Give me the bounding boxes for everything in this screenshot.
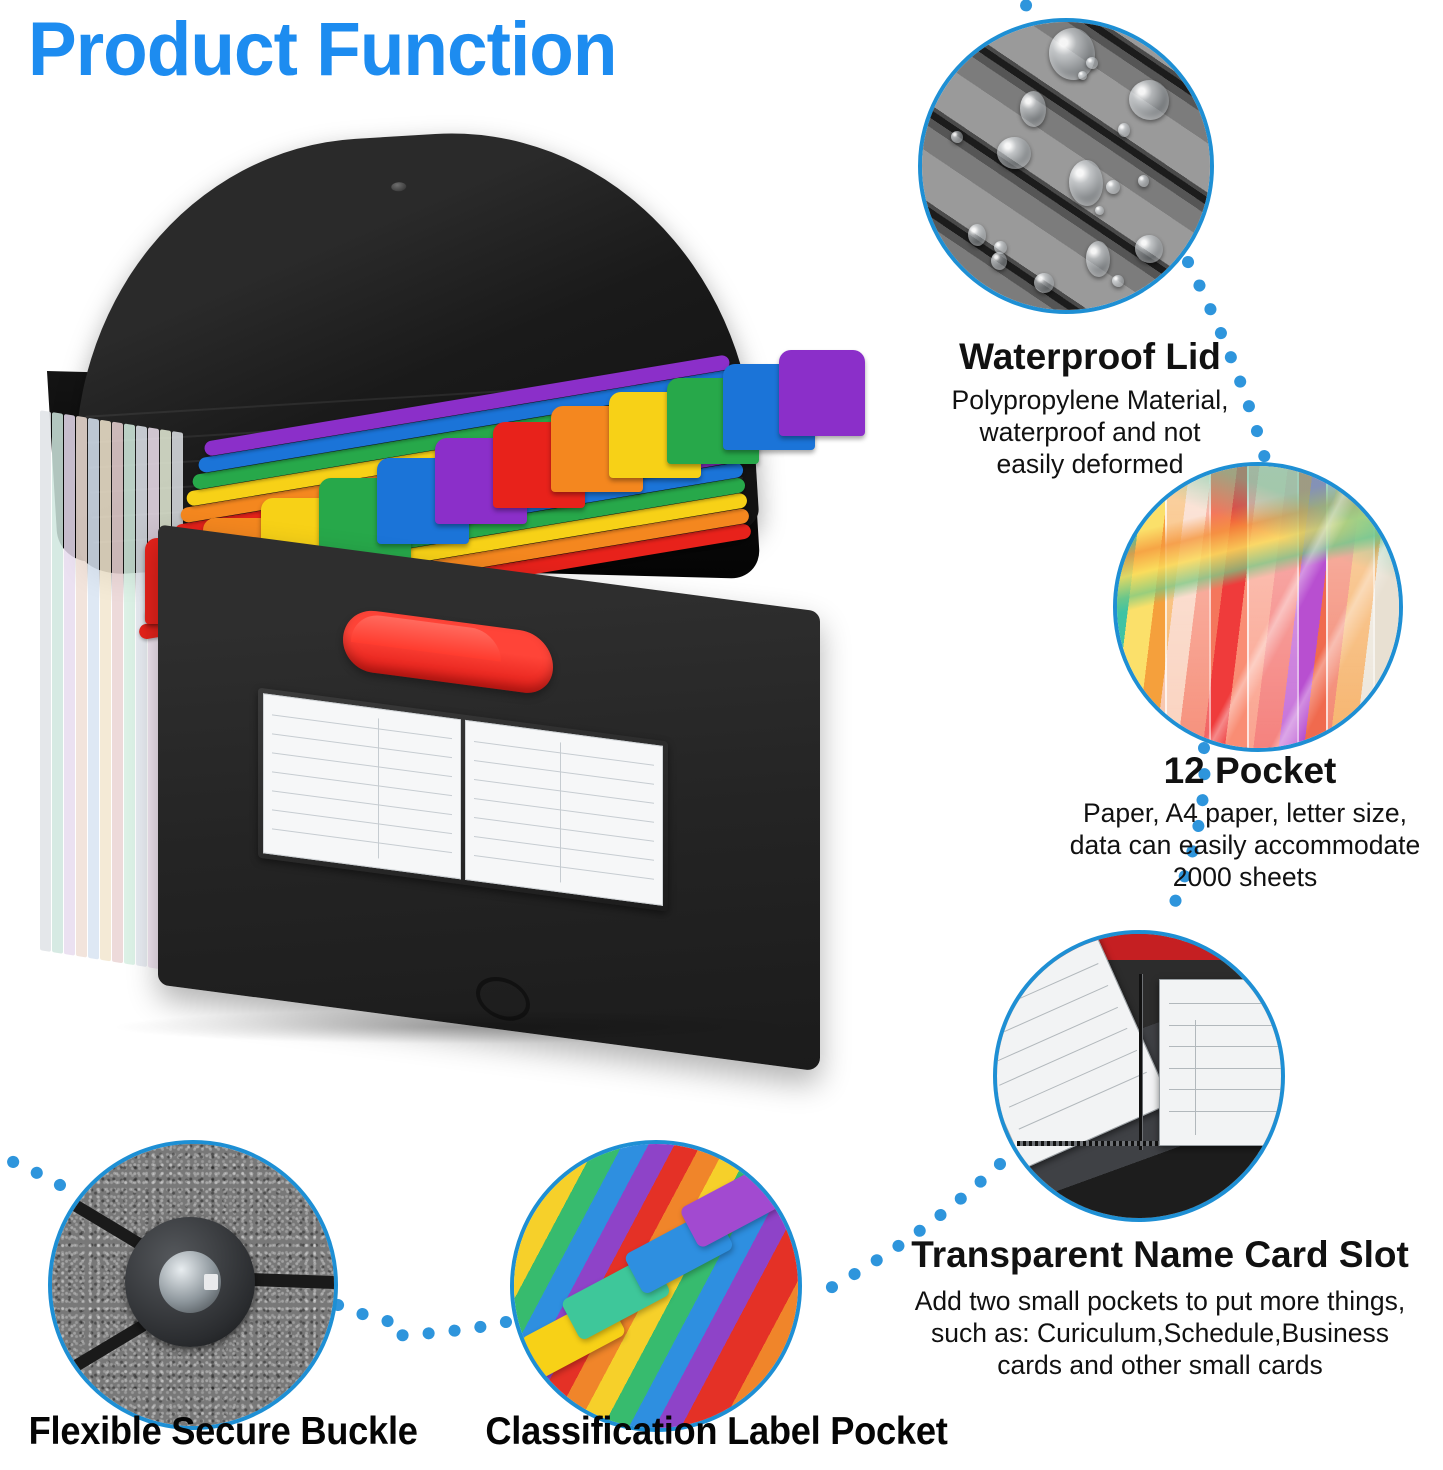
folder-front-panel: [158, 524, 820, 1071]
flexible-secure-buckle-label: Flexible Secure Buckle: [29, 1410, 418, 1454]
12-pocket-body-line-3: 2000 sheets: [1045, 862, 1443, 894]
waterproof-lid-body-line-1: Polypropylene Material,: [890, 385, 1290, 417]
label-pocket-left: [263, 693, 461, 879]
product-drop-shadow: [110, 1010, 810, 1044]
name-card-slot-body-line-1: Add two small pockets to put more things…: [880, 1286, 1440, 1318]
12-pocket-body-line-1: Paper, A4 paper, letter size,: [1045, 798, 1443, 830]
name-card-slot-heading: Transparent Name Card Slot: [880, 1236, 1440, 1275]
name-card-left: [993, 935, 1171, 1168]
colored-pocket-dividers-photo: [1113, 462, 1403, 752]
label-pocket-right: [465, 720, 663, 906]
12-pocket-body-line-2: data can easily accommodate: [1045, 830, 1443, 862]
buckle-closeup-photo: [48, 1140, 338, 1430]
water-droplets-on-lid-photo: [918, 18, 1214, 314]
classification-label-pocket-label: Classification Label Pocket: [485, 1410, 947, 1454]
red-carry-handle: [343, 607, 553, 697]
name-card-slot-body-line-2: such as: Curiculum,Schedule,Business: [880, 1318, 1440, 1350]
expanding-file-folder-product-image: [40, 130, 860, 1050]
buckle-grommet-icon: [125, 1217, 255, 1347]
page-title: Product Function: [28, 12, 617, 88]
transparent-label-pocket-pair: [258, 688, 668, 912]
name-card-right: [1159, 979, 1285, 1146]
waterproof-lid-body-line-2: waterproof and not: [890, 417, 1290, 449]
waterproof-lid-heading: Waterproof Lid: [890, 338, 1290, 377]
name-card-slot-body-line-3: cards and other small cards: [880, 1350, 1440, 1382]
rainbow-label-tabs-photo: [510, 1140, 802, 1432]
name-card-slot-photo: [993, 930, 1285, 1222]
lid-stud-icon: [391, 182, 407, 192]
12-pocket-heading: 12 Pocket: [1055, 752, 1443, 791]
